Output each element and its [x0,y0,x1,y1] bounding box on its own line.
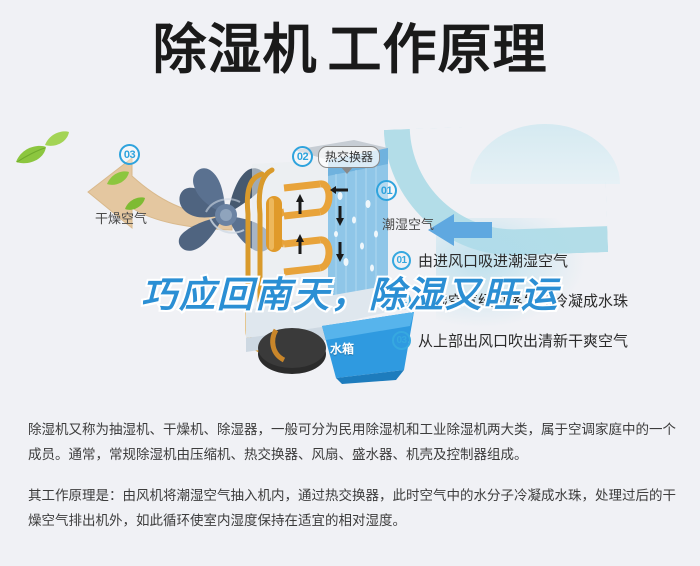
title-part-2: 工作原理 [318,18,548,81]
leaf-icon [14,144,48,166]
step-text: 由进风口吸进潮湿空气 [418,250,568,271]
list-item: 02 潮湿空气经过蒸发器冷凝成水珠 [392,280,692,320]
label-heat-exchanger: 热交换器 [318,146,380,168]
step-number: 01 [392,251,411,270]
label-humid-air: 潮湿空气 [382,214,434,233]
badge-02-heat-exchanger: 02 [292,146,313,167]
step-number: 03 [392,331,411,350]
badge-03-dry-air: 03 [119,144,140,165]
description-block: 除湿机又称为抽湿机、干燥机、除湿器，一般可分为民用除湿机和工业除湿机两大类，属于… [28,418,676,550]
label-dry-air: 干燥空气 [95,208,147,227]
title-part-1: 除湿机 [153,18,318,81]
infographic-page: 除湿机工作原理 [0,0,700,566]
step-text: 潮湿空气经过蒸发器冷凝成水珠 [418,290,628,311]
process-steps-list: 01 由进风口吸进潮湿空气 02 潮湿空气经过蒸发器冷凝成水珠 03 从上部出风… [392,240,692,360]
description-paragraph-2: 其工作原理是：由风机将潮湿空气抽入机内，通过热交换器，此时空气中的水分子冷凝成水… [28,484,676,534]
description-paragraph-1: 除湿机又称为抽湿机、干燥机、除湿器，一般可分为民用除湿机和工业除湿机两大类，属于… [28,418,676,468]
leaf-icon [106,170,130,187]
leaf-icon [44,130,70,148]
step-number: 02 [392,291,411,310]
label-water-tank: 水箱 [330,340,354,357]
list-item: 03 从上部出风口吹出清新干爽空气 [392,320,692,360]
badge-01-humid-air: 01 [376,180,397,201]
list-item: 01 由进风口吸进潮湿空气 [392,240,692,280]
page-title: 除湿机工作原理 [0,22,700,79]
step-text: 从上部出风口吹出清新干爽空气 [418,330,628,351]
